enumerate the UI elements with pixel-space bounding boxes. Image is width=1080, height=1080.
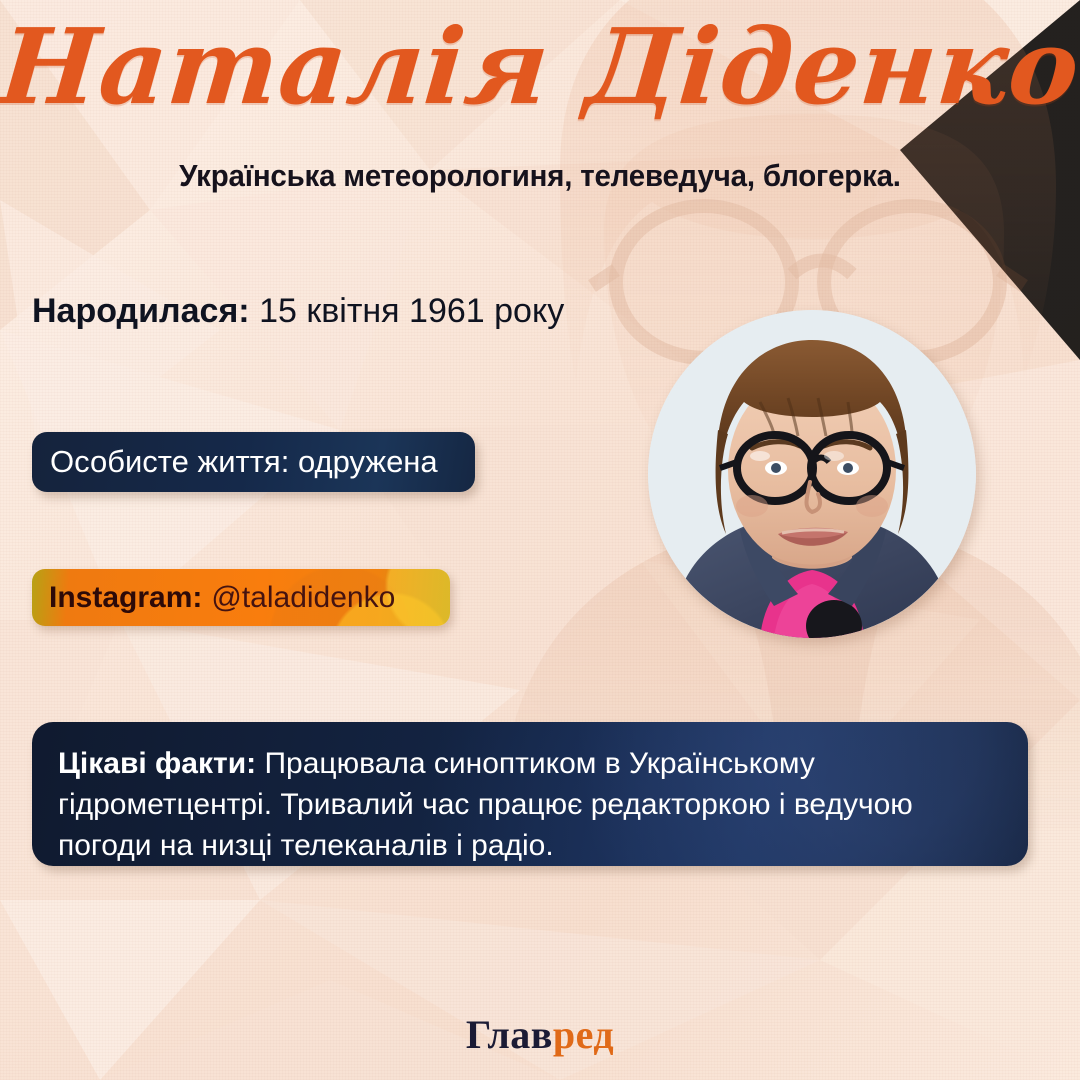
instagram-label: Instagram: [49, 581, 202, 615]
page-subtitle: Українська метеорологиня, телеведуча, бл… [27, 158, 1053, 194]
infographic-card: Наталія Діденко Українська метеорологиня… [0, 0, 1080, 1080]
page-title: Наталія Діденко [0, 6, 1080, 129]
logo-part-glav: Глав [466, 1012, 553, 1057]
instagram-badge[interactable]: Instagram: @taladidenko [32, 569, 450, 626]
interesting-facts-box: Цікаві факти: Працювала синоптиком в Укр… [32, 722, 1028, 866]
born-line: Народилася: 15 квітня 1961 року [32, 292, 564, 331]
personal-life-text: Особисте життя: одружена [50, 444, 438, 480]
personal-life-badge: Особисте життя: одружена [32, 432, 475, 492]
site-logo[interactable]: Главред [0, 1011, 1080, 1058]
born-value: 15 квітня 1961 року [259, 292, 564, 330]
facts-label: Цікаві факти: [58, 747, 256, 780]
born-label: Народилася: [32, 292, 250, 330]
instagram-handle[interactable]: @taladidenko [211, 581, 395, 615]
logo-part-red: ред [553, 1012, 614, 1057]
portrait-photo [648, 310, 976, 638]
portrait-illustration [648, 310, 976, 638]
